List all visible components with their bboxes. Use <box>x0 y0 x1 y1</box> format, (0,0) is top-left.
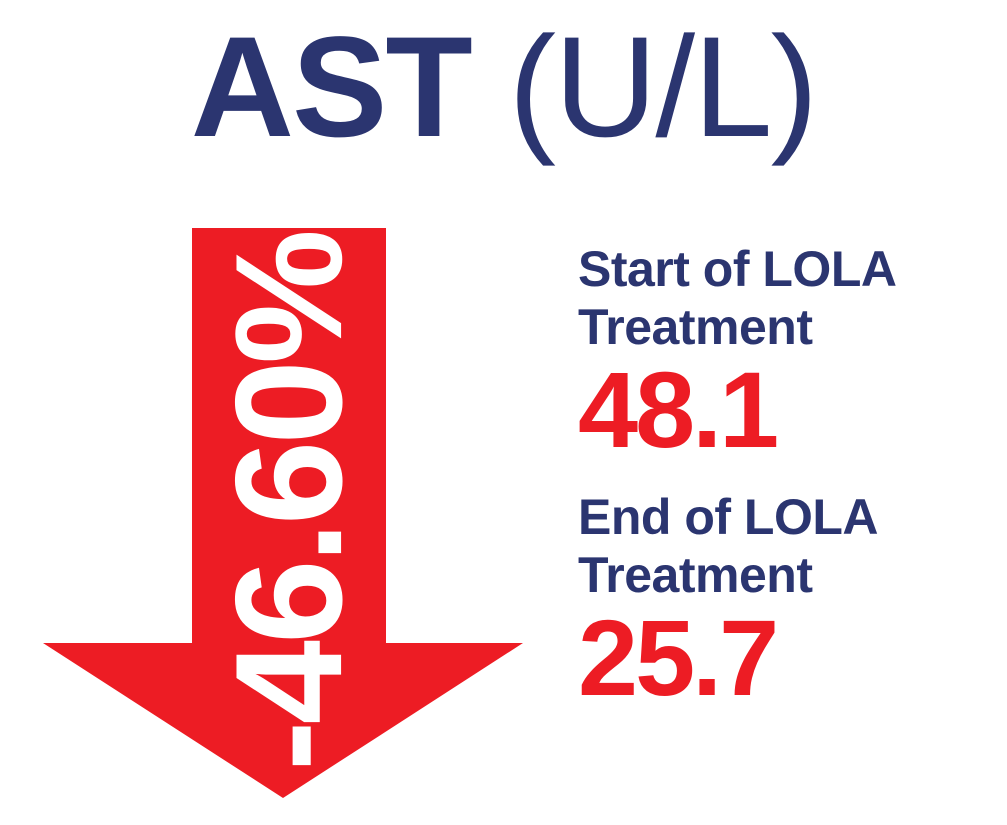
page-title-units: (U/L) <box>471 8 817 167</box>
decrease-arrow <box>40 228 530 803</box>
stat-label-end: End of LOLA Treatment <box>578 488 988 604</box>
stat-value-start: 48.1 <box>578 360 988 460</box>
page-title-analyte: AST <box>191 8 471 167</box>
page-title: AST (U/L) <box>0 14 1007 162</box>
stat-label-start: Start of LOLA Treatment <box>578 240 988 356</box>
stat-value-end: 25.7 <box>578 608 988 708</box>
stat-block-start: Start of LOLA Treatment 48.1 <box>578 240 988 460</box>
stats-column: Start of LOLA Treatment 48.1 End of LOLA… <box>578 240 988 708</box>
stat-block-end: End of LOLA Treatment 25.7 <box>578 488 988 708</box>
infographic-root: AST (U/L) -46.60% Start of LOLA Treatmen… <box>0 0 1007 825</box>
down-arrow-icon <box>40 228 530 803</box>
